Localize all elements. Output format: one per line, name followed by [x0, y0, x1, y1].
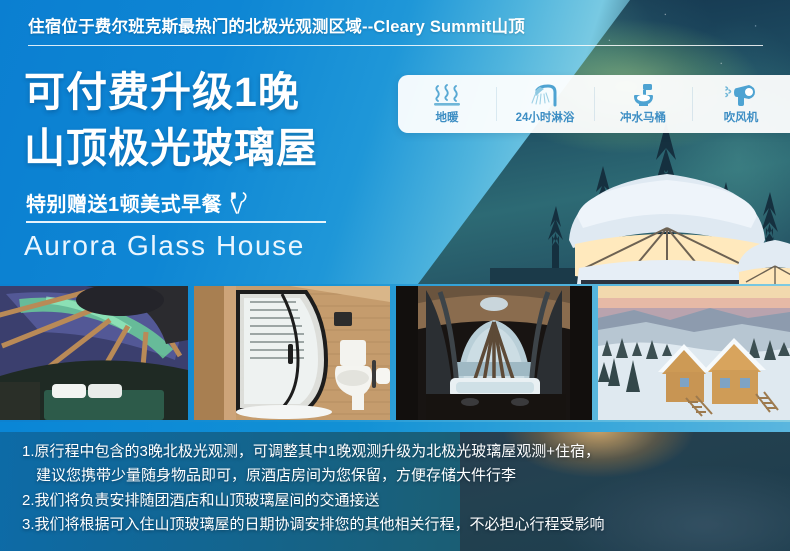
gallery-photo-2[interactable] — [194, 286, 390, 420]
note-index: 3. — [22, 516, 35, 533]
note-text: 我们将根据可入住山顶玻璃屋的日期协调安排您的其他相关行程，不必担心行程受影响 — [35, 516, 605, 533]
notes-top-accent-bar — [0, 422, 790, 432]
amenity-label: 地暖 — [436, 109, 459, 125]
wooden-cabin-bathroom-image — [194, 286, 390, 420]
notes-section: 1.原行程中包含的3晚北极光观测，可调整其中1晚观测升级为北极光玻璃屋观测+住宿… — [0, 422, 790, 551]
hair-dryer-icon — [725, 83, 757, 107]
note-item: 1.原行程中包含的3晚北极光观测，可调整其中1晚观测升级为北极光玻璃屋观测+住宿… — [22, 440, 782, 489]
note-text: 原行程中包含的3晚北极光观测，可调整其中1晚观测升级为北极光玻璃屋观测+住宿， — [35, 443, 600, 460]
note-item: 2.我们将负责安排随团酒店和山顶玻璃屋间的交通接送 — [22, 489, 782, 513]
amenity-shower: 24小时淋浴 — [496, 75, 594, 133]
amenities-panel: 地暖 24小时淋浴 — [398, 75, 790, 133]
amenity-label: 冲水马桶 — [620, 109, 666, 125]
note-item: 3.我们将根据可入住山顶玻璃屋的日期协调安排您的其他相关行程，不必担心行程受影响 — [22, 513, 782, 537]
breakfast-subline: 特别赠送1顿美式早餐 — [26, 188, 247, 217]
gallery-photo-1[interactable] — [0, 286, 188, 420]
note-continuation: 建议您携带少量随身物品即可，原酒店房间为您保留，方便存储大件行李 — [22, 464, 782, 488]
notes-list: 1.原行程中包含的3晚北极光观测，可调整其中1晚观测升级为北极光玻璃屋观测+住宿… — [22, 440, 782, 537]
promo-poster: 住宿位于费尔班克斯最热门的北极光观测区域--Cleary Summit山顶 可付… — [0, 0, 790, 551]
gallery-photo-4[interactable] — [598, 286, 790, 420]
snowy-mountain-cabins-image — [598, 286, 790, 420]
amenity-toilet: 冲水马桶 — [594, 75, 692, 133]
note-text: 我们将负责安排随团酒店和山顶玻璃屋间的交通接送 — [35, 492, 380, 509]
kicker-text: 住宿位于费尔班克斯最热门的北极光观测区域--Cleary Summit山顶 — [28, 13, 525, 37]
glass-dome-lodge-small-icon — [732, 230, 790, 288]
amenity-hair-dryer: 吹风机 — [692, 75, 790, 133]
flush-toilet-icon — [629, 83, 657, 107]
english-title: Aurora Glass House — [24, 230, 305, 262]
hero-section: 住宿位于费尔班克斯最热门的北极光观测区域--Cleary Summit山顶 可付… — [0, 0, 790, 288]
fork-and-spoon-icon — [229, 192, 247, 214]
amenity-label: 24小时淋浴 — [516, 109, 575, 125]
headline-line-2: 山顶极光玻璃屋 — [24, 128, 318, 169]
aurora-glass-dome-bedroom-image — [0, 286, 188, 420]
headline-line-1: 可付费升级1晚 — [24, 72, 300, 113]
subline-divider — [26, 221, 326, 223]
note-index: 2. — [22, 492, 35, 509]
breakfast-subline-label: 特别赠送1顿美式早餐 — [26, 188, 222, 217]
shower-head-icon — [529, 83, 561, 107]
gallery-photo-3[interactable] — [396, 286, 592, 420]
note-index: 1. — [22, 443, 35, 460]
kicker-divider — [28, 45, 763, 46]
glass-house-bathtub-view-image — [396, 286, 592, 420]
amenity-floor-heating: 地暖 — [398, 75, 496, 133]
floor-heating-icon — [432, 83, 462, 107]
amenity-label: 吹风机 — [724, 109, 759, 125]
photo-gallery-strip — [0, 284, 790, 422]
